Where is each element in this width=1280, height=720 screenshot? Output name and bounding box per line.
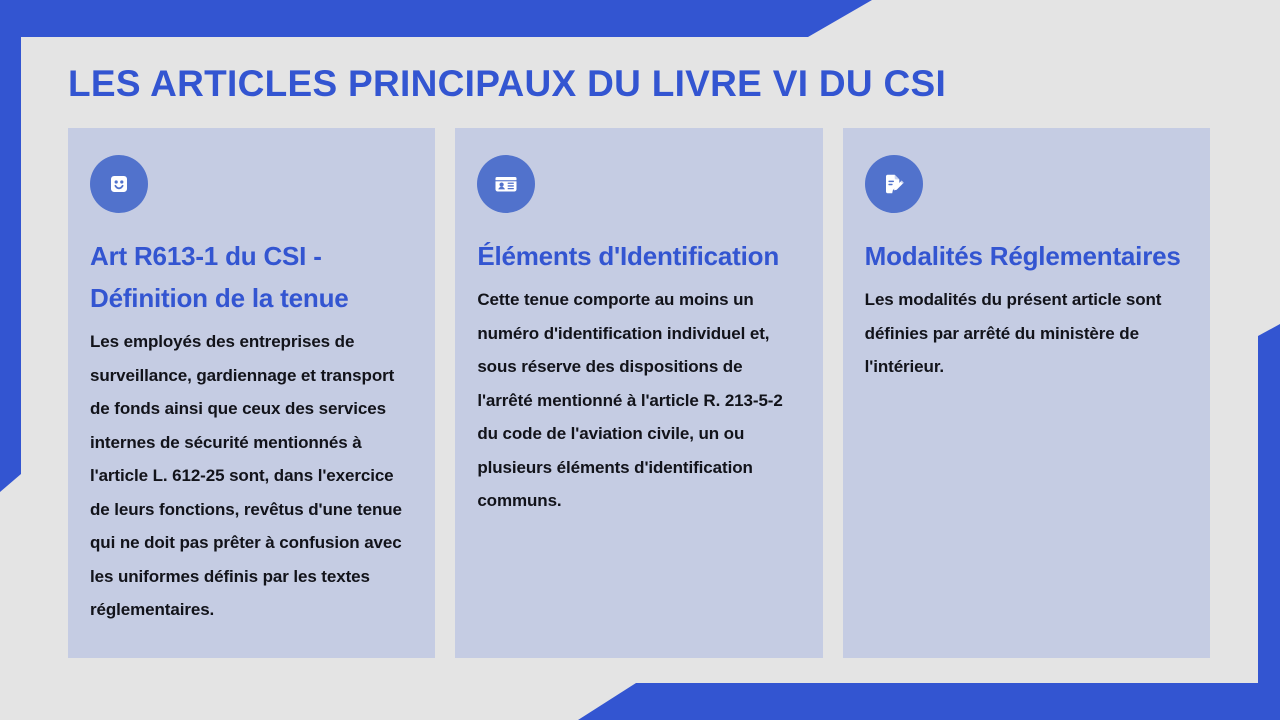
top-blue-banner [0,0,872,37]
right-blue-strip [1258,324,1280,684]
id-card-icon [477,155,535,213]
card-title: Art R613-1 du CSI - Définition de la ten… [90,235,413,319]
card-article-definition: Art R613-1 du CSI - Définition de la ten… [68,128,435,658]
card-identification-elements: Éléments d'Identification Cette tenue co… [455,128,822,658]
card-body: Les employés des entreprises de surveill… [90,325,413,627]
card-body: Les modalités du présent article sont dé… [865,283,1188,384]
left-blue-strip [0,0,21,492]
card-title: Éléments d'Identification [477,235,800,277]
card-body: Cette tenue comporte au moins un numéro … [477,283,800,518]
document-edit-icon [865,155,923,213]
card-regulatory-terms: Modalités Réglementaires Les modalités d… [843,128,1210,658]
page-title: LES ARTICLES PRINCIPAUX DU LIVRE VI DU C… [68,60,946,108]
smiley-face-icon [90,155,148,213]
bottom-blue-banner [578,683,1280,720]
cards-container: Art R613-1 du CSI - Définition de la ten… [68,128,1210,658]
card-title: Modalités Réglementaires [865,235,1188,277]
